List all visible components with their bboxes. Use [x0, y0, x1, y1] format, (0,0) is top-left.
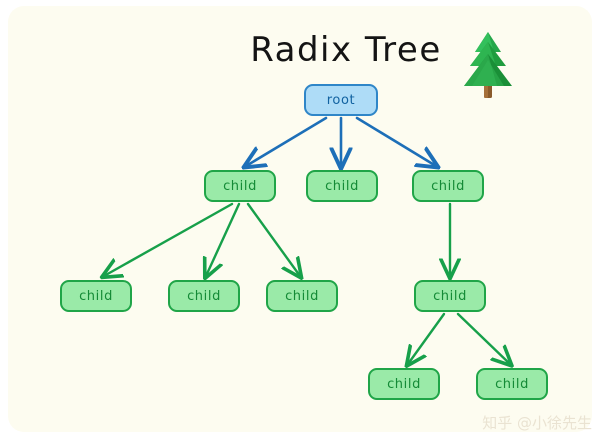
tree-node-child-2[interactable]: child: [306, 170, 378, 202]
tree-node-child-3a1[interactable]: child: [368, 368, 440, 400]
watermark: 知乎 @小徐先生: [460, 410, 592, 436]
diagram-canvas: Radix Tree: [8, 6, 592, 432]
tree-node-label: child: [187, 289, 221, 304]
tree-node-label: child: [285, 289, 319, 304]
tree-node-root[interactable]: root: [304, 84, 378, 116]
tree-node-label: child: [495, 377, 529, 392]
tree-node-label: child: [79, 289, 113, 304]
tree-node-child-3[interactable]: child: [412, 170, 484, 202]
diagram-screenshot: Radix Tree: [0, 0, 600, 438]
edge-group-child3a: [408, 314, 510, 364]
tree-node-label: child: [387, 377, 421, 392]
tree-node-label: child: [325, 179, 359, 194]
tree-node-child-1b[interactable]: child: [168, 280, 240, 312]
tree-node-label: child: [223, 179, 257, 194]
tree-node-label: child: [433, 289, 467, 304]
tree-node-label: child: [431, 179, 465, 194]
tree-node-child-3a[interactable]: child: [414, 280, 486, 312]
tree-node-child-1a[interactable]: child: [60, 280, 132, 312]
tree-node-child-1c[interactable]: child: [266, 280, 338, 312]
tree-node-child-3a2[interactable]: child: [476, 368, 548, 400]
edge-group-child1: [104, 204, 300, 276]
tree-node-label: root: [327, 93, 355, 108]
edge-group-root: [246, 118, 436, 166]
tree-node-child-1[interactable]: child: [204, 170, 276, 202]
